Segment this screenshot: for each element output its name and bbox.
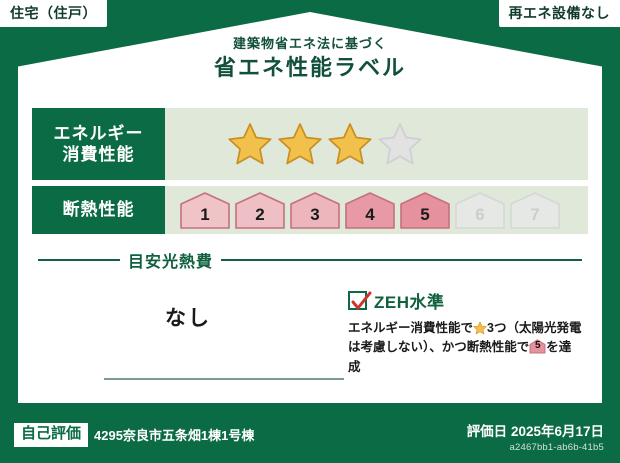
self-evaluation-badge: 自己評価 (14, 423, 88, 447)
insulation-level-number: 6 (475, 205, 484, 229)
insulation-performance-row: 断熱性能 1234567 (32, 186, 588, 234)
insulation-level-number: 5 (420, 205, 429, 229)
star-rating (227, 121, 423, 167)
star-filled-icon (277, 121, 323, 167)
evaluation-date: 評価日 2025年6月17日 (467, 420, 604, 440)
energy-rating-cell (165, 108, 588, 180)
insulation-level-3: 3 (289, 191, 341, 229)
insulation-level-7: 7 (509, 191, 561, 229)
insulation-level-5: 5 (399, 191, 451, 229)
check-icon (349, 289, 373, 313)
label-body-panel: エネルギー 消費性能 断熱性能 1234567 目安光熱費 なし (18, 98, 602, 403)
star-empty-icon (377, 121, 423, 167)
star-filled-icon (327, 121, 373, 167)
insulation-level-4: 4 (344, 191, 396, 229)
building-type-tag: 住宅（住戸） (0, 0, 107, 27)
insulation-level-number: 7 (530, 205, 539, 229)
insulation-level-1: 1 (179, 191, 231, 229)
energy-performance-row: エネルギー 消費性能 (32, 108, 588, 180)
footer-right: 評価日 2025年6月17日 a2467bb1-ab6b-41b5 (467, 420, 604, 453)
footer-left: 自己評価 4295奈良市五条畑1棟1号棟 (14, 423, 254, 447)
property-address: 4295奈良市五条畑1棟1号棟 (94, 425, 254, 444)
lower-content-area: なし ZEH水準 エネルギー消費性能で3つ（太陽光発電 は考慮しない）、かつ断熱… (38, 272, 582, 377)
insulation-label: 断熱性能 (63, 199, 135, 220)
insulation-level-2: 2 (234, 191, 286, 229)
evaluation-id: a2467bb1-ab6b-41b5 (467, 442, 604, 453)
insulation-level-number: 1 (200, 205, 209, 229)
inline-house-level: 5 (529, 339, 546, 354)
label-footer: 自己評価 4295奈良市五条畑1棟1号棟 評価日 2025年6月17日 a246… (0, 407, 620, 463)
zeh-standard-block: ZEH水準 エネルギー消費性能で3つ（太陽光発電 は考慮しない）、かつ断熱性能で… (338, 272, 582, 377)
zeh-desc-part1: エネルギー消費性能で (348, 321, 473, 335)
utility-cost-title: 目安光熱費 (120, 248, 221, 272)
insulation-level-6: 6 (454, 191, 506, 229)
zeh-header: ZEH水準 (348, 288, 582, 313)
insulation-performance-label-cell: 断熱性能 (32, 186, 165, 234)
insulation-level-number: 3 (310, 205, 319, 229)
star-filled-icon (227, 121, 273, 167)
inline-star-icon (473, 321, 487, 335)
insulation-level-scale: 1234567 (179, 191, 561, 229)
renewable-energy-tag: 再エネ設備なし (499, 0, 620, 27)
zeh-checkbox[interactable] (348, 291, 367, 310)
utility-cost-value: なし (165, 302, 211, 332)
energy-label-line2: 消費性能 (63, 144, 135, 165)
divider-left (38, 259, 120, 261)
insulation-level-number: 4 (365, 205, 374, 229)
divider-right (221, 259, 582, 261)
zeh-desc-star-count: 3つ（太陽光発電 (487, 321, 581, 335)
cost-underline (104, 378, 344, 380)
zeh-description: エネルギー消費性能で3つ（太陽光発電 は考慮しない）、かつ断熱性能で5を達成 (348, 319, 582, 377)
zeh-desc-part2: は考慮しない）、かつ断熱性能で (348, 340, 529, 354)
insulation-level-number: 2 (255, 205, 264, 229)
energy-performance-label-cell: エネルギー 消費性能 (32, 108, 165, 180)
inline-house-icon: 5 (529, 339, 546, 354)
energy-performance-label: 住宅（住戸） 再エネ設備なし 建築物省エネ法に基づく 省エネ性能ラベル エネルギ… (0, 0, 620, 463)
energy-label-line1: エネルギー (54, 123, 144, 144)
utility-cost-value-area: なし (38, 272, 338, 377)
utility-cost-header: 目安光熱費 (38, 248, 582, 272)
insulation-rating-cell: 1234567 (165, 186, 588, 234)
zeh-title: ZEH水準 (374, 288, 445, 313)
